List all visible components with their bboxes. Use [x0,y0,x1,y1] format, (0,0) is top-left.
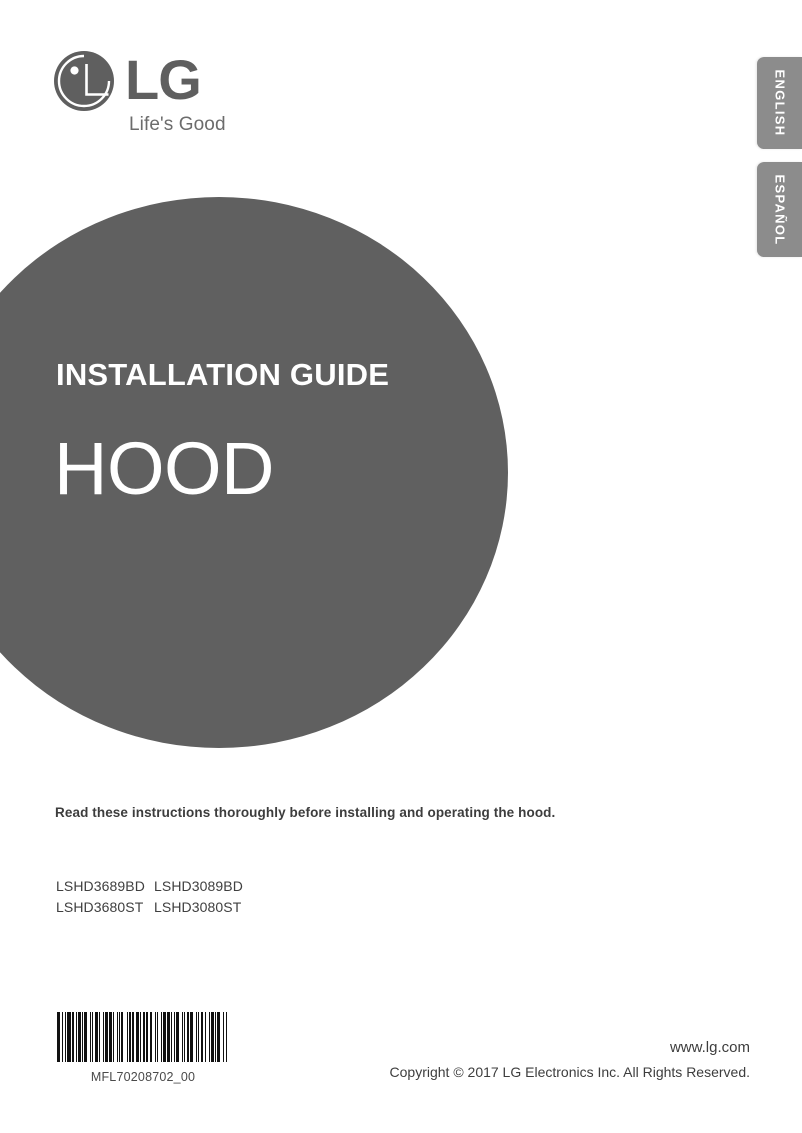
model-row: LSHD3689BD LSHD3089BD [56,876,243,897]
lg-tagline: Life's Good [129,114,226,136]
lg-wordmark: LG [125,51,201,109]
language-tab-english-label: ENGLISH [772,70,787,137]
model-number-list: LSHD3689BD LSHD3089BD LSHD3680ST LSHD308… [56,876,243,918]
model-number: LSHD3689BD [56,876,154,897]
model-number: LSHD3680ST [56,897,154,918]
website-url[interactable]: www.lg.com [390,1036,750,1060]
language-tab-espanol[interactable]: ESPAÑOL [757,162,802,257]
language-tab-espanol-label: ESPAÑOL [772,174,787,245]
barcode-icon [57,1012,229,1062]
lg-logo: LG Life's Good [53,48,293,148]
copyright-notice: Copyright © 2017 LG Electronics Inc. All… [390,1060,750,1084]
model-number: LSHD3089BD [154,876,243,897]
footer: www.lg.com Copyright © 2017 LG Electroni… [390,1036,750,1084]
lg-face-logo-icon [53,50,115,112]
read-instructions-notice: Read these instructions thoroughly befor… [55,805,555,820]
model-row: LSHD3680ST LSHD3080ST [56,897,243,918]
guide-kicker: INSTALLATION GUIDE [56,357,389,393]
model-number: LSHD3080ST [154,897,241,918]
page-title: HOOD [54,430,274,508]
hero-circle-graphic: INSTALLATION GUIDE HOOD [0,197,508,748]
barcode-number: MFL70208702_00 [57,1070,229,1084]
language-tab-english[interactable]: ENGLISH [757,57,802,149]
barcode-block: MFL70208702_00 [57,1012,229,1084]
document-cover-page: LG Life's Good ENGLISH ESPAÑOL INSTALLAT… [0,0,802,1133]
